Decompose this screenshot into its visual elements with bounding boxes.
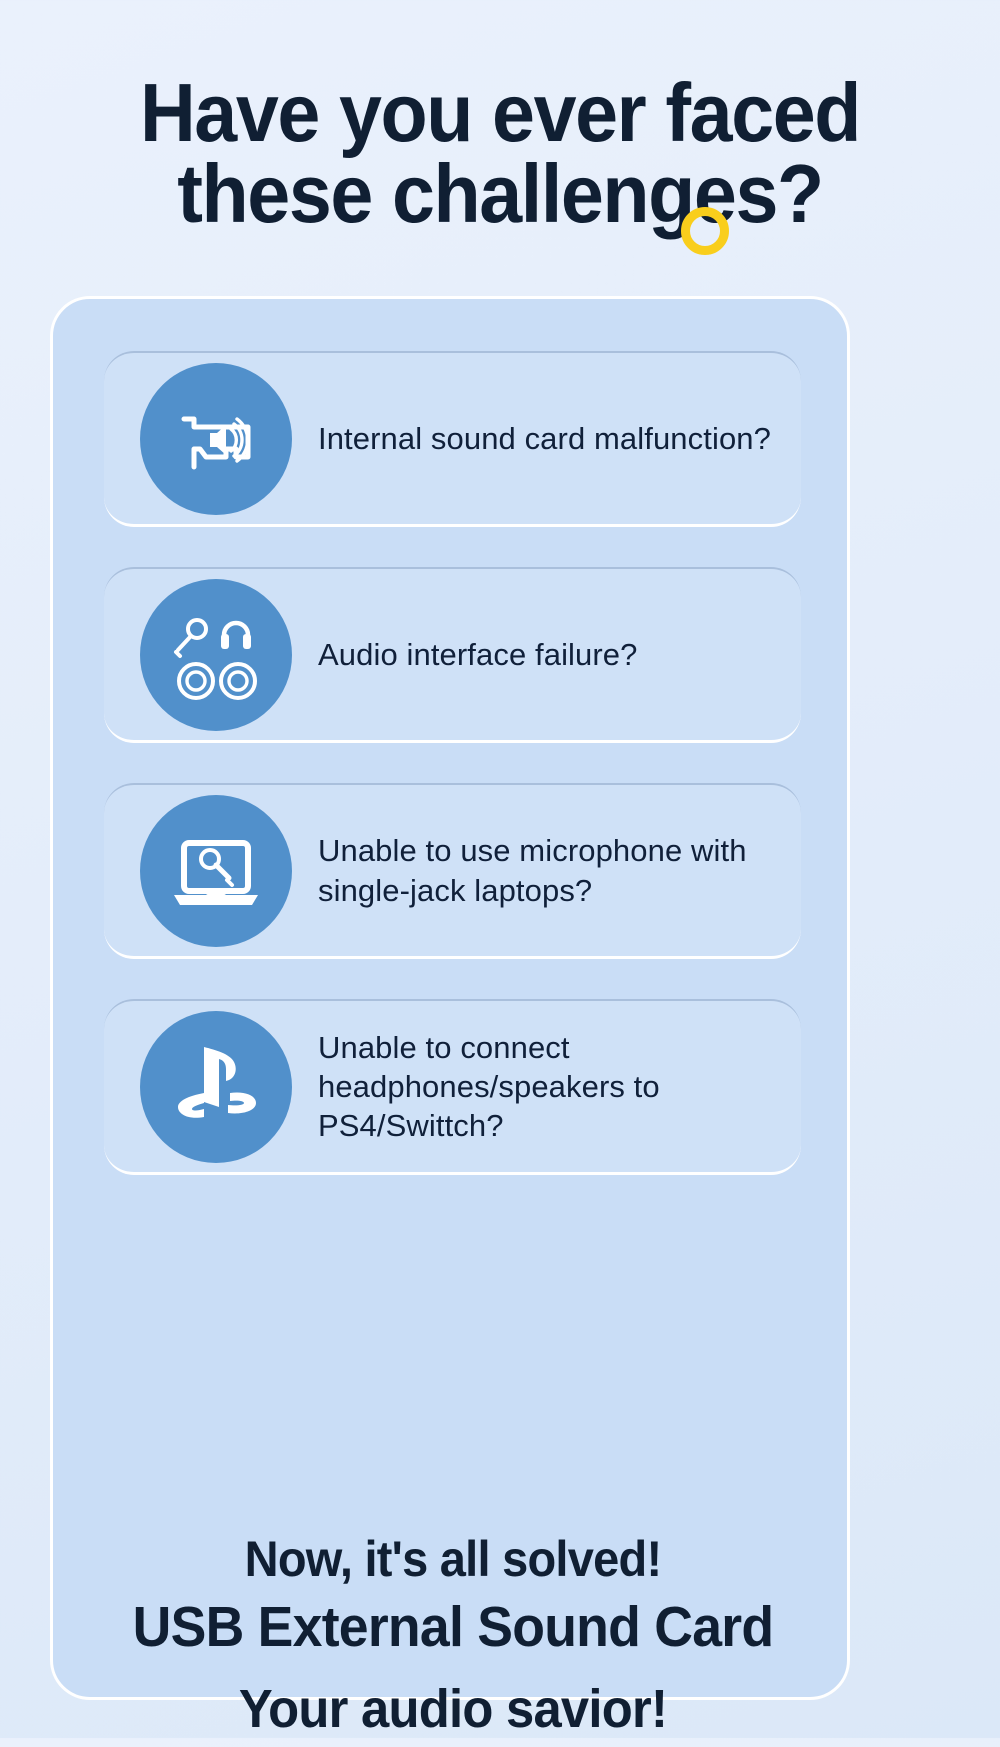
footer-message: Now, it's all solved! USB External Sound… bbox=[53, 1534, 853, 1747]
challenge-card-3[interactable]: Unable to use microphone with single-jac… bbox=[104, 783, 801, 959]
challenge-card-1-label: Internal sound card malfunction? bbox=[318, 419, 771, 458]
footer-line-3: Your audio savior! bbox=[77, 1671, 829, 1747]
headline-line-1: Have you ever faced bbox=[35, 72, 965, 153]
footer-line-2: USB External Sound Card bbox=[77, 1584, 829, 1671]
challenge-card-2[interactable]: Audio interface failure? bbox=[104, 567, 801, 743]
challenge-card-4[interactable]: Unable to connect headphones/speakers to… bbox=[104, 999, 801, 1175]
challenge-card-1[interactable]: Internal sound card malfunction? bbox=[104, 351, 801, 527]
page-headline: Have you ever faced these challenges? bbox=[35, 72, 965, 235]
footer-line-1: Now, it's all solved! bbox=[77, 1534, 829, 1584]
challenges-panel: Internal sound card malfunction? Audio i… bbox=[50, 296, 850, 1700]
challenge-card-2-label: Audio interface failure? bbox=[318, 635, 637, 674]
challenge-card-3-label: Unable to use microphone with single-jac… bbox=[318, 831, 801, 909]
audio-interface-icon bbox=[140, 579, 292, 731]
sound-card-icon bbox=[140, 363, 292, 515]
yellow-ring-accent-icon bbox=[681, 207, 729, 255]
challenge-card-list: Internal sound card malfunction? Audio i… bbox=[104, 351, 801, 1175]
playstation-logo-icon bbox=[140, 1011, 292, 1163]
challenge-card-4-label: Unable to connect headphones/speakers to… bbox=[318, 1028, 801, 1145]
laptop-microphone-icon bbox=[140, 795, 292, 947]
